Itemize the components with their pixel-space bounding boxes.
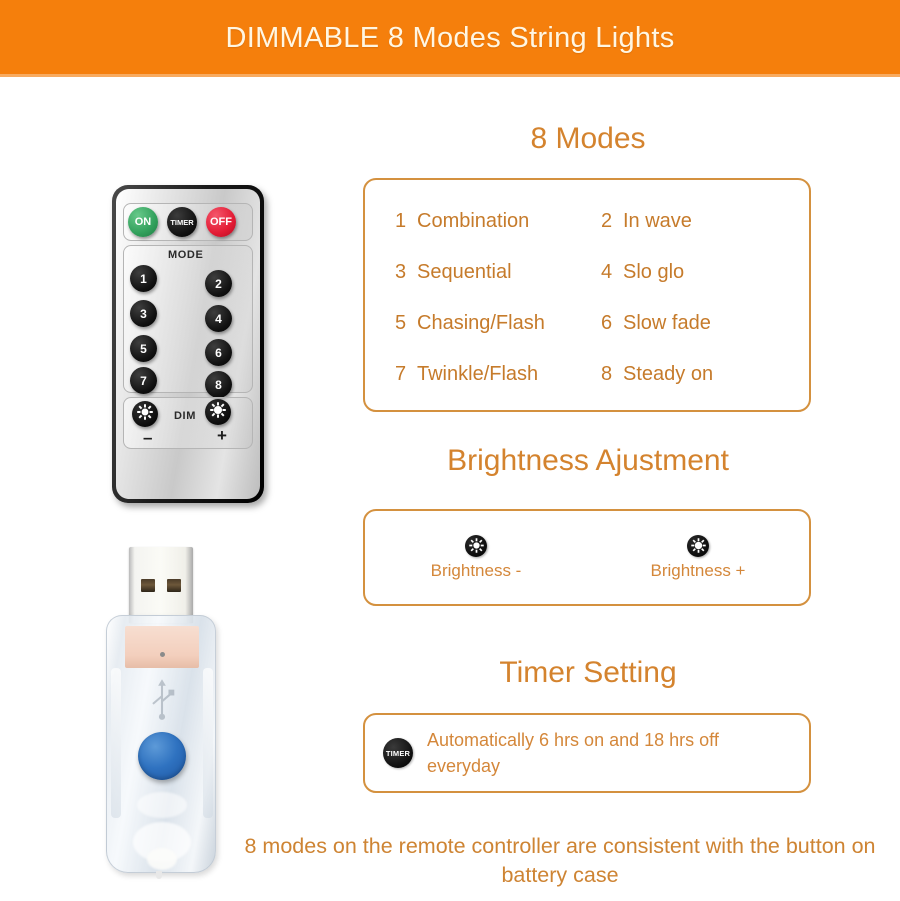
usb-controller-image (106, 547, 216, 877)
usb-ridge-right (203, 668, 213, 818)
brightness-box: Brightness - (363, 509, 811, 606)
brightness-down-cell: Brightness - (365, 535, 587, 581)
mode-item-4: 4 Slo glo (601, 247, 799, 298)
mode-number: 7 (395, 363, 417, 386)
mode-number: 6 (601, 312, 623, 335)
mode-number: 1 (395, 210, 417, 233)
usb-contact-right-icon (167, 579, 181, 592)
modes-grid: 1 Combination 2 In wave 3 Sequential 4 S… (395, 196, 799, 400)
sun-dim-up-icon (687, 535, 709, 557)
remote-dim-label: DIM (174, 410, 196, 422)
sun-icon (136, 403, 154, 426)
brightness-row: Brightness - (365, 511, 809, 604)
remote-on-button[interactable]: ON (128, 207, 158, 237)
brightness-up-cell: Brightness + (587, 535, 809, 581)
usb-cable-stub (156, 871, 162, 879)
remote-dim-up-button[interactable] (205, 399, 231, 425)
sun-icon (209, 401, 227, 424)
sun-dim-down-icon (465, 535, 487, 557)
remote-mode-label: MODE (168, 249, 203, 261)
mode-number: 8 (601, 363, 623, 386)
mode-item-2: 2 In wave (601, 196, 799, 247)
mode-number: 3 (395, 261, 417, 284)
timer-icon: TIMER (383, 738, 413, 768)
remote-plus-sign: + (217, 427, 227, 444)
remote-mode-button-6[interactable]: 6 (205, 339, 232, 366)
mode-label: Slow fade (623, 312, 711, 335)
timer-description: Automatically 6 hrs on and 18 hrs off ev… (427, 727, 787, 779)
mode-number: 5 (395, 312, 417, 335)
modes-box: 1 Combination 2 In wave 3 Sequential 4 S… (363, 178, 811, 412)
mode-label: Slo glo (623, 261, 684, 284)
remote-dim-down-button[interactable] (132, 401, 158, 427)
usb-mode-button[interactable] (138, 732, 186, 780)
brightness-up-caption: Brightness + (651, 561, 746, 581)
usb-pcb (125, 626, 199, 668)
remote-mode-button-1[interactable]: 1 (130, 265, 157, 292)
remote-mode-button-2[interactable]: 2 (205, 270, 232, 297)
mode-number: 2 (601, 210, 623, 233)
footer-note: 8 modes on the remote controller are con… (240, 832, 880, 890)
mode-label: Twinkle/Flash (417, 363, 538, 386)
brightness-down-caption: Brightness - (431, 561, 522, 581)
mode-item-5: 5 Chasing/Flash (395, 298, 593, 349)
usb-internal-blob (147, 848, 177, 870)
mode-label: Chasing/Flash (417, 312, 545, 335)
product-infographic: DIMMABLE 8 Modes String Lights ON TIMER … (0, 0, 900, 901)
mode-item-3: 3 Sequential (395, 247, 593, 298)
mode-item-6: 6 Slow fade (601, 298, 799, 349)
mode-label: Combination (417, 210, 529, 233)
header-banner: DIMMABLE 8 Modes String Lights (0, 0, 900, 77)
remote-mode-button-8[interactable]: 8 (205, 371, 232, 398)
remote-mode-button-7[interactable]: 7 (130, 367, 157, 394)
mode-label: Steady on (623, 363, 713, 386)
remote-body: ON TIMER OFF MODE 1 2 3 4 5 6 7 8 DIM (116, 189, 260, 499)
mode-item-7: 7 Twinkle/Flash (395, 349, 593, 400)
usb-internal-blob (137, 792, 187, 818)
usb-contact-left-icon (141, 579, 155, 592)
usb-led-icon (160, 652, 165, 657)
remote-minus-sign: – (143, 429, 152, 446)
mode-number: 4 (601, 261, 623, 284)
usb-trident-icon (145, 678, 179, 722)
remote-mode-button-5[interactable]: 5 (130, 335, 157, 362)
mode-label: Sequential (417, 261, 512, 284)
remote-mode-button-4[interactable]: 4 (205, 305, 232, 332)
remote-mode-button-3[interactable]: 3 (130, 300, 157, 327)
timer-section-heading: Timer Setting (363, 656, 813, 690)
modes-section-heading: 8 Modes (363, 122, 813, 156)
timer-box: TIMER Automatically 6 hrs on and 18 hrs … (363, 713, 811, 793)
remote-control-image: ON TIMER OFF MODE 1 2 3 4 5 6 7 8 DIM (112, 185, 264, 503)
usb-connector (129, 547, 193, 623)
remote-timer-button[interactable]: TIMER (167, 207, 197, 237)
mode-item-1: 1 Combination (395, 196, 593, 247)
usb-ridge-left (111, 668, 121, 818)
remote-off-button[interactable]: OFF (206, 207, 236, 237)
timer-row: TIMER Automatically 6 hrs on and 18 hrs … (365, 715, 809, 791)
brightness-section-heading: Brightness Ajustment (363, 444, 813, 478)
usb-shell (106, 615, 216, 873)
page-title: DIMMABLE 8 Modes String Lights (225, 22, 674, 55)
mode-item-8: 8 Steady on (601, 349, 799, 400)
mode-label: In wave (623, 210, 692, 233)
